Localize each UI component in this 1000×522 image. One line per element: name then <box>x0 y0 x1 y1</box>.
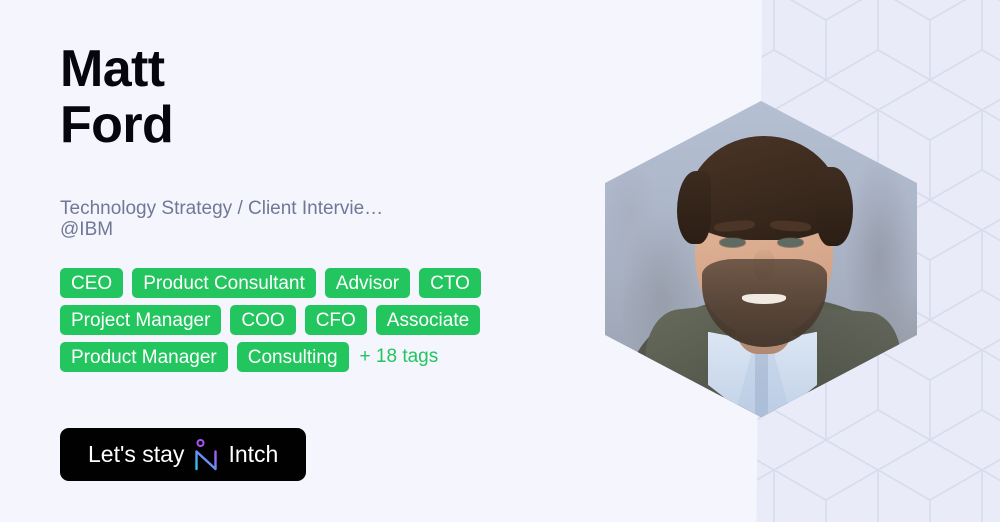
tag-chip[interactable]: Product Manager <box>60 342 228 372</box>
photo-eye-right <box>778 238 803 246</box>
lets-stay-intch-button[interactable]: Let's stay Intch <box>60 428 306 481</box>
tag-chip[interactable]: Advisor <box>325 268 410 298</box>
intch-n-logo-icon <box>193 438 219 472</box>
profile-card: Matt Ford Technology Strategy / Client I… <box>0 0 1000 522</box>
tag-chip[interactable]: Associate <box>376 305 480 335</box>
profile-name: Matt Ford <box>60 41 173 153</box>
tag-chip[interactable]: Project Manager <box>60 305 221 335</box>
tag-chip[interactable]: Product Consultant <box>132 268 316 298</box>
tag-chip[interactable]: COO <box>230 305 295 335</box>
tag-list: CEO Product Consultant Advisor CTO Proje… <box>60 268 560 372</box>
profile-content: Matt Ford Technology Strategy / Client I… <box>60 0 580 522</box>
avatar <box>605 101 917 417</box>
avatar-photo <box>605 101 917 417</box>
photo-eye-left <box>720 238 745 246</box>
more-tags-label[interactable]: + 18 tags <box>360 346 439 368</box>
tag-chip[interactable]: CTO <box>419 268 481 298</box>
avatar-hexagon-mask <box>605 101 917 417</box>
tag-chip[interactable]: CEO <box>60 268 123 298</box>
cta-label: Let's stay <box>88 443 184 466</box>
cta-brand-label: Intch <box>228 443 278 466</box>
profile-headline: Technology Strategy / Client Intervie… @… <box>60 198 520 240</box>
tag-chip[interactable]: Consulting <box>237 342 349 372</box>
tag-chip[interactable]: CFO <box>305 305 367 335</box>
